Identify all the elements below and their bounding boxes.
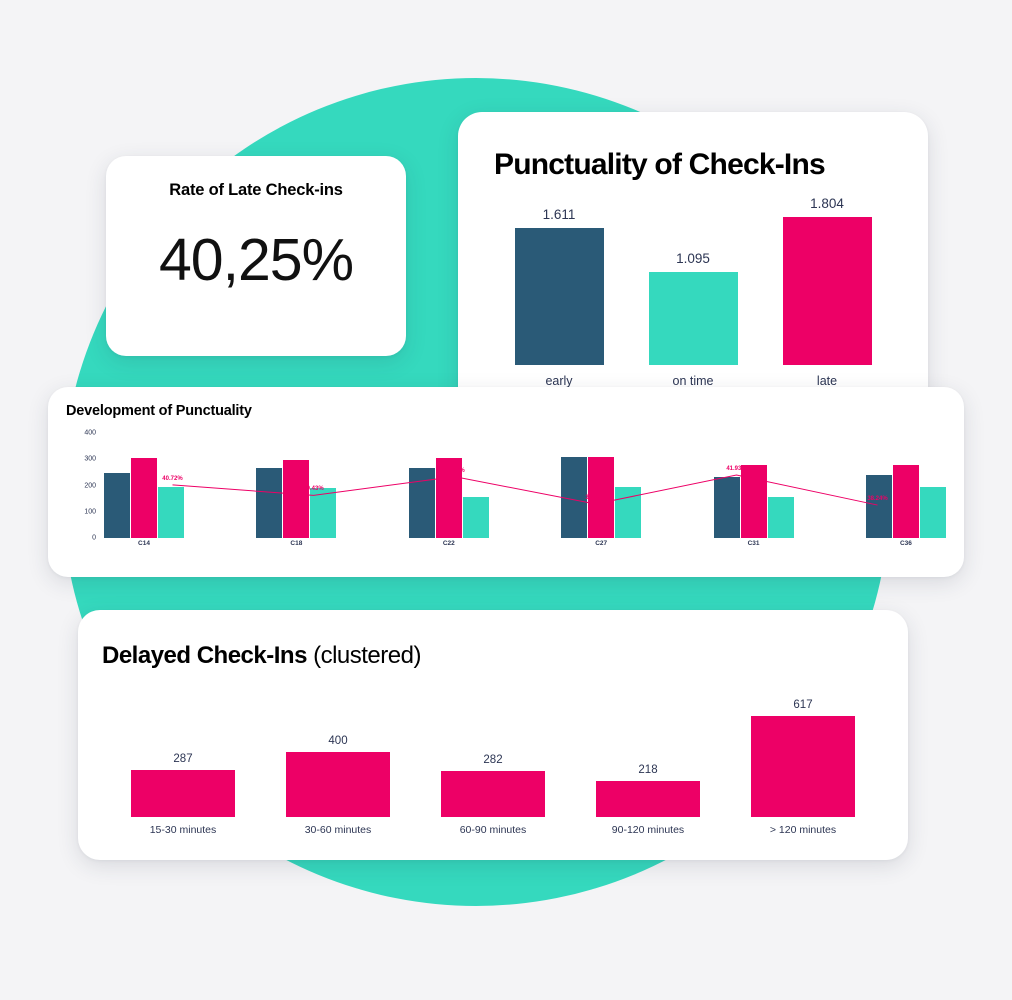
punctuality-chart-title: Punctuality of Check-Ins [494,148,928,182]
punctuality-bar-chart: 1.611early1.095on time1.804late [492,196,894,388]
delayed-category-label: 15-30 minutes [150,824,217,836]
delayed-value-label: 218 [638,764,657,776]
development-bar [714,477,740,538]
delayed-category-label: 30-60 minutes [305,824,372,836]
kpi-title: Rate of Late Check-ins [106,181,406,200]
delayed-title-strong: Delayed Check-Ins [102,642,307,669]
delayed-bar [131,770,235,817]
delayed-bar [286,752,390,817]
punctuality-category-label: on time [673,374,714,388]
delayed-category-label: 90-120 minutes [612,824,684,836]
delayed-column: 21890-120 minutes [573,686,723,836]
punctuality-value-label: 1.804 [810,196,844,211]
dashboard-canvas: Rate of Late Check-ins 40,25% Punctualit… [0,0,1012,1000]
punctuality-column: 1.804late [771,196,883,388]
development-bar [920,487,946,538]
development-bar [310,488,336,538]
punctuality-column: 1.611early [503,196,615,388]
development-x-tick: C31 [712,540,796,547]
development-y-tick: 300 [84,456,96,463]
development-combo-chart: 4003002001000 40.72%39.43%41.73%38.37%41… [64,433,948,558]
development-bar [283,460,309,538]
development-bar [104,473,130,538]
development-bar [409,468,435,538]
development-y-tick: 400 [84,430,96,437]
delayed-value-label: 287 [173,753,192,765]
development-x-tick: C36 [864,540,948,547]
punctuality-column: 1.095on time [637,196,749,388]
delayed-category-label: 60-90 minutes [460,824,527,836]
development-x-tick: C18 [254,540,338,547]
development-bar-group [559,433,643,538]
development-x-tick: C27 [559,540,643,547]
punctuality-value-label: 1.611 [543,207,576,222]
delayed-value-label: 400 [328,735,347,747]
development-bar [768,497,794,538]
delayed-bar [596,781,700,817]
delayed-column: 28260-90 minutes [418,686,568,836]
development-of-punctuality-card: Development of Punctuality 4003002001000… [48,387,964,577]
punctuality-value-label: 1.095 [676,251,710,266]
punctuality-bar [783,217,872,365]
development-bar [131,458,157,538]
development-bar-group [102,433,186,538]
delayed-checkins-card: Delayed Check-Ins (clustered) 28715-30 m… [78,610,908,860]
development-bar [561,457,587,538]
delayed-title-light: (clustered) [313,642,421,669]
development-bar-group [864,433,948,538]
delayed-value-label: 617 [793,699,812,711]
kpi-value: 40,25% [106,226,406,294]
development-bar [436,458,462,538]
development-y-tick: 200 [84,482,96,489]
delayed-bar [441,771,545,817]
development-bar-group [254,433,338,538]
delayed-category-label: > 120 minutes [770,824,836,836]
punctuality-bar [649,272,738,365]
punctuality-bar [515,228,604,365]
development-x-tick: C14 [102,540,186,547]
development-bar [893,465,919,538]
development-bar [866,475,892,538]
development-y-axis: 4003002001000 [64,433,98,538]
delayed-bar-chart: 28715-30 minutes40030-60 minutes28260-90… [108,686,878,836]
development-bar [256,468,282,538]
development-bar [463,497,489,538]
punctuality-category-label: early [545,374,572,388]
delayed-column: 40030-60 minutes [263,686,413,836]
development-bar [741,465,767,539]
development-y-tick: 0 [92,535,96,542]
development-y-tick: 100 [84,508,96,515]
development-bar [158,487,184,538]
development-bar-groups [102,433,948,538]
development-chart-title: Development of Punctuality [66,403,964,419]
development-bar-group [712,433,796,538]
delayed-bar [751,716,855,817]
delayed-chart-title: Delayed Check-Ins (clustered) [102,642,908,670]
development-bar [588,457,614,538]
development-bar [615,487,641,538]
development-bar-group [407,433,491,538]
delayed-column: 28715-30 minutes [108,686,258,836]
punctuality-of-checkins-card: Punctuality of Check-Ins 1.611early1.095… [458,112,928,424]
development-x-axis: C14C18C22C27C31C36 [102,540,948,547]
punctuality-category-label: late [817,374,837,388]
rate-of-late-checkins-card: Rate of Late Check-ins 40,25% [106,156,406,356]
delayed-value-label: 282 [483,754,502,766]
delayed-column: 617> 120 minutes [728,686,878,836]
development-x-tick: C22 [407,540,491,547]
